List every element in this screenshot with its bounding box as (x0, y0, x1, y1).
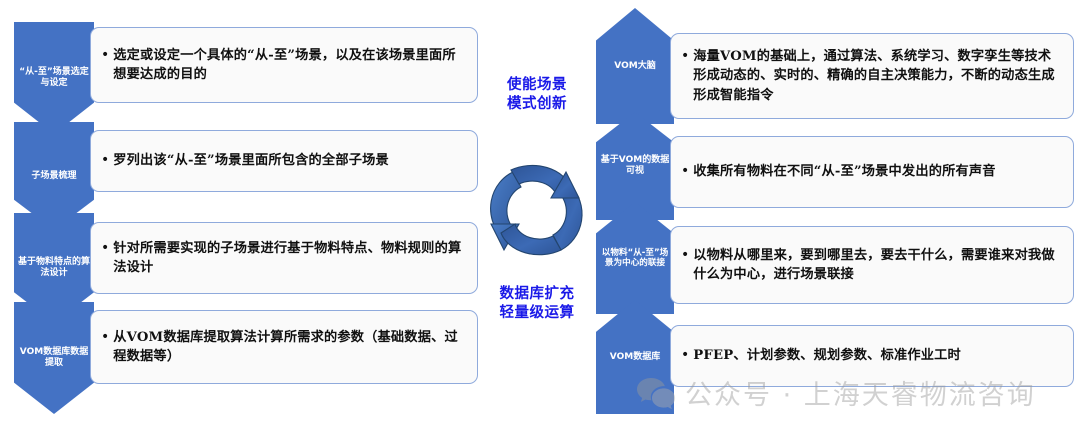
left-chevron-1[interactable]: “从-至”场景选定与设定 (14, 22, 94, 134)
bullet-icon: • (681, 47, 689, 67)
right-box-2-text: 收集所有物料在不同“从-至”场景中发出的所有声音 (693, 162, 1059, 181)
center-bottom-line-2: 轻量级运算 (482, 304, 592, 323)
right-chevron-1[interactable]: VOM大脑 (596, 8, 674, 124)
right-chevron-3-label: 以物料“从-至”场景为中心的联接 (599, 248, 671, 268)
left-box-2[interactable]: • 罗列出该“从-至”场景里面所包含的全部子场景 (90, 130, 478, 192)
left-column: “从-至”场景选定与设定 • 选定或设定一个具体的“从-至”场景，以及在该场景里… (0, 0, 490, 434)
right-box-2[interactable]: • 收集所有物料在不同“从-至”场景中发出的所有声音 (670, 136, 1074, 208)
left-chevron-1-label: “从-至”场景选定与设定 (17, 67, 91, 88)
diagram-canvas: “从-至”场景选定与设定 • 选定或设定一个具体的“从-至”场景，以及在该场景里… (0, 0, 1080, 434)
right-box-3[interactable]: • 以物料从哪里来，要到哪里去，要去干什么，需要谁来对我做什么为中心，进行场景联… (670, 226, 1074, 304)
center-top-label: 使能场景 模式创新 (482, 76, 592, 113)
right-chevron-4-label: VOM数据库 (599, 352, 671, 363)
circular-recycle-arrows-icon (483, 140, 591, 280)
bullet-icon: • (101, 328, 109, 348)
bullet-icon: • (101, 46, 109, 66)
right-chevron-4[interactable]: VOM数据库 (596, 300, 674, 414)
left-box-4-text: 从VOM数据库提取算法计算所需求的参数（基础数据、过程数据等） (113, 328, 463, 366)
left-box-2-text: 罗列出该“从-至”场景里面所包含的全部子场景 (113, 151, 463, 170)
bullet-icon: • (101, 151, 109, 171)
bullet-icon: • (681, 246, 689, 266)
center-top-line-1: 使能场景 (482, 76, 592, 95)
left-box-1-text: 选定或设定一个具体的“从-至”场景，以及在该场景里面所想要达成的目的 (113, 46, 463, 84)
bullet-icon: • (681, 346, 689, 366)
left-box-1[interactable]: • 选定或设定一个具体的“从-至”场景，以及在该场景里面所想要达成的目的 (90, 27, 478, 103)
left-chevron-3-label: 基于物料特点的算法设计 (17, 257, 91, 278)
right-chevron-2-label: 基于VOM的数据可视 (599, 155, 671, 176)
bullet-icon: • (681, 162, 689, 182)
right-box-1[interactable]: • 海量VOM的基础上，通过算法、系统学习、数字孪生等技术形成动态的、实时的、精… (670, 33, 1074, 119)
bullet-icon: • (101, 239, 109, 259)
left-chevron-2-label: 子场景梳理 (17, 171, 91, 182)
center-top-line-2: 模式创新 (482, 95, 592, 114)
left-box-3-text: 针对所需要实现的子场景进行基于物料特点、物料规则的算法设计 (113, 239, 463, 277)
center-cycle-group: 使能场景 模式创新 (482, 0, 592, 434)
left-box-3[interactable]: • 针对所需要实现的子场景进行基于物料特点、物料规则的算法设计 (90, 222, 478, 294)
right-chevron-1-label: VOM大脑 (599, 61, 671, 72)
right-column: VOM大脑 • 海量VOM的基础上，通过算法、系统学习、数字孪生等技术形成动态的… (590, 0, 1080, 434)
right-box-4[interactable]: • PFEP、计划参数、规划参数、标准作业工时 (670, 325, 1074, 387)
center-bottom-label: 数据库扩充 轻量级运算 (482, 285, 592, 322)
left-chevron-4-label: VOM数据库数据提取 (17, 347, 91, 368)
left-chevron-4[interactable]: VOM数据库数据提取 (14, 302, 94, 414)
right-box-4-text: PFEP、计划参数、规划参数、标准作业工时 (693, 346, 1059, 365)
left-box-4[interactable]: • 从VOM数据库提取算法计算所需求的参数（基础数据、过程数据等） (90, 310, 478, 384)
right-box-3-text: 以物料从哪里来，要到哪里去，要去干什么，需要谁来对我做什么为中心，进行场景联接 (693, 246, 1059, 284)
center-bottom-line-1: 数据库扩充 (482, 285, 592, 304)
right-box-1-text: 海量VOM的基础上，通过算法、系统学习、数字孪生等技术形成动态的、实时的、精确的… (693, 47, 1059, 104)
